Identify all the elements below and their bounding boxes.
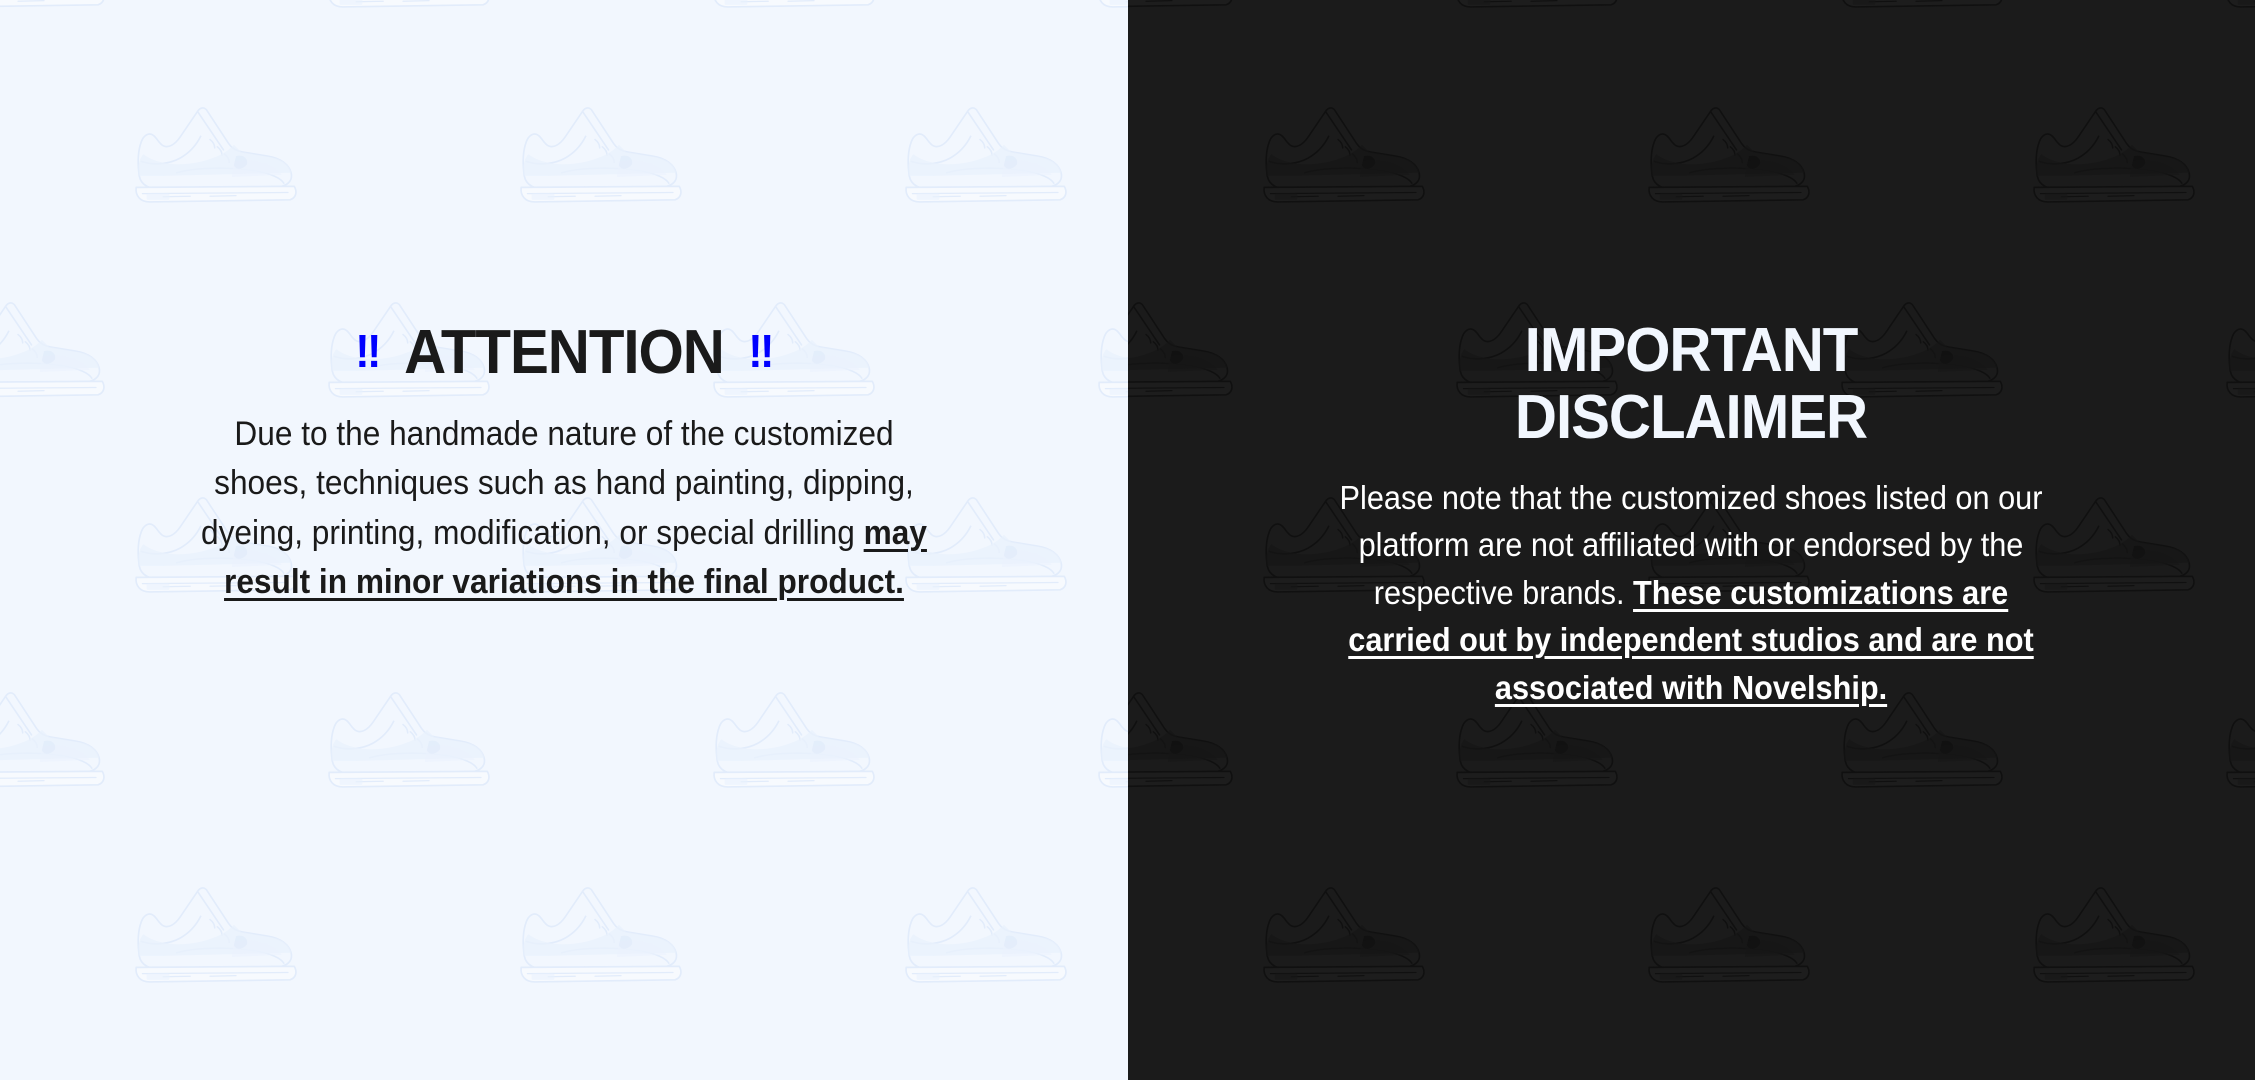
- attention-heading-text: ATTENTION: [404, 322, 724, 384]
- attention-content: ‼ ATTENTION ‼ Due to the handmade nature…: [204, 322, 924, 607]
- disclaimer-panel: IMPORTANT DISCLAIMER Please note that th…: [1128, 0, 2255, 1080]
- disclaimer-heading: IMPORTANT DISCLAIMER: [1353, 318, 2030, 452]
- disclaimer-heading-line-1: IMPORTANT: [1525, 316, 1858, 385]
- disclaimer-body: Please note that the customized shoes li…: [1319, 474, 2063, 712]
- double-exclamation-icon-right: ‼: [748, 328, 772, 374]
- attention-panel: ‼ ATTENTION ‼ Due to the handmade nature…: [0, 0, 1128, 1080]
- disclaimer-heading-line-2: DISCLAIMER: [1515, 383, 1867, 452]
- double-exclamation-icon-left: ‼: [355, 328, 379, 374]
- attention-heading: ‼ ATTENTION ‼: [225, 322, 902, 384]
- attention-body-normal: Due to the handmade nature of the custom…: [201, 415, 914, 552]
- attention-body: Due to the handmade nature of the custom…: [196, 410, 931, 607]
- disclaimer-content: IMPORTANT DISCLAIMER Please note that th…: [1331, 318, 2051, 711]
